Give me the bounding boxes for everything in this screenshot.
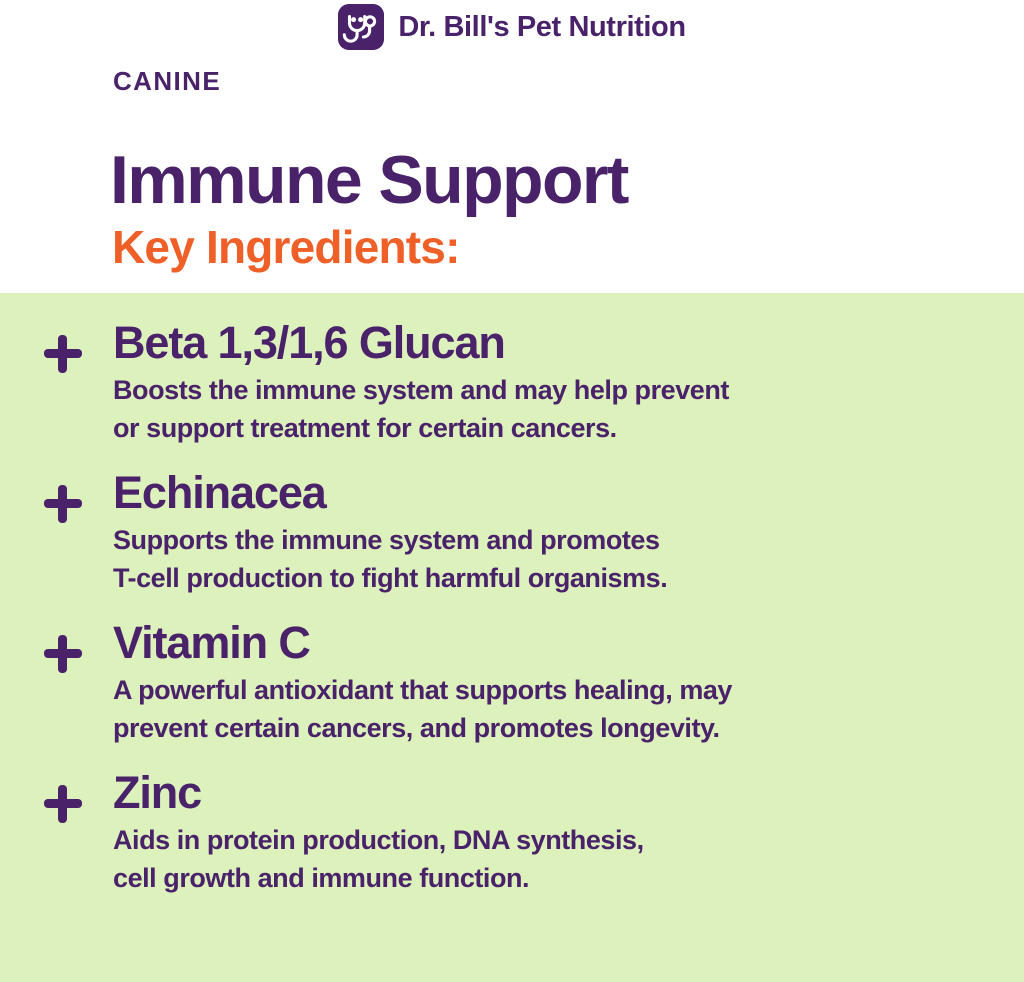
plus-icon	[44, 485, 82, 523]
ingredients-list: Beta 1,3/1,6 Glucan Boosts the immune sy…	[0, 293, 1024, 918]
ingredient-description: Aids in protein production, DNA synthesi…	[113, 822, 984, 898]
ingredient-description: A powerful antioxidant that supports hea…	[113, 672, 984, 748]
eyebrow-label: CANINE	[113, 68, 221, 94]
ingredient-description: Boosts the immune system and may help pr…	[113, 372, 984, 448]
plus-icon	[44, 785, 82, 823]
ingredients-panel: Beta 1,3/1,6 Glucan Boosts the immune sy…	[0, 293, 1024, 982]
ingredient-name: Echinacea	[113, 469, 984, 516]
ingredient-name: Vitamin C	[113, 619, 984, 666]
ingredient-name: Beta 1,3/1,6 Glucan	[113, 319, 984, 366]
ingredient-name: Zinc	[113, 769, 984, 816]
list-item: Beta 1,3/1,6 Glucan Boosts the immune sy…	[0, 319, 1024, 448]
immune-support-poster: Dr. Bill's Pet Nutrition CANINE Immune S…	[0, 0, 1024, 982]
list-item: Zinc Aids in protein production, DNA syn…	[0, 769, 1024, 898]
ingredient-description: Supports the immune system and promotes …	[113, 522, 984, 598]
plus-icon	[44, 635, 82, 673]
brand-name: Dr. Bill's Pet Nutrition	[398, 13, 685, 42]
list-item: Echinacea Supports the immune system and…	[0, 469, 1024, 598]
brand-row: Dr. Bill's Pet Nutrition	[0, 4, 1024, 50]
page-title: Immune Support	[110, 146, 628, 214]
stethoscope-pet-face-icon	[338, 4, 384, 50]
page-subtitle: Key Ingredients:	[112, 224, 460, 270]
header-band: Dr. Bill's Pet Nutrition CANINE Immune S…	[0, 0, 1024, 293]
plus-icon	[44, 335, 82, 373]
list-item: Vitamin C A powerful antioxidant that su…	[0, 619, 1024, 748]
